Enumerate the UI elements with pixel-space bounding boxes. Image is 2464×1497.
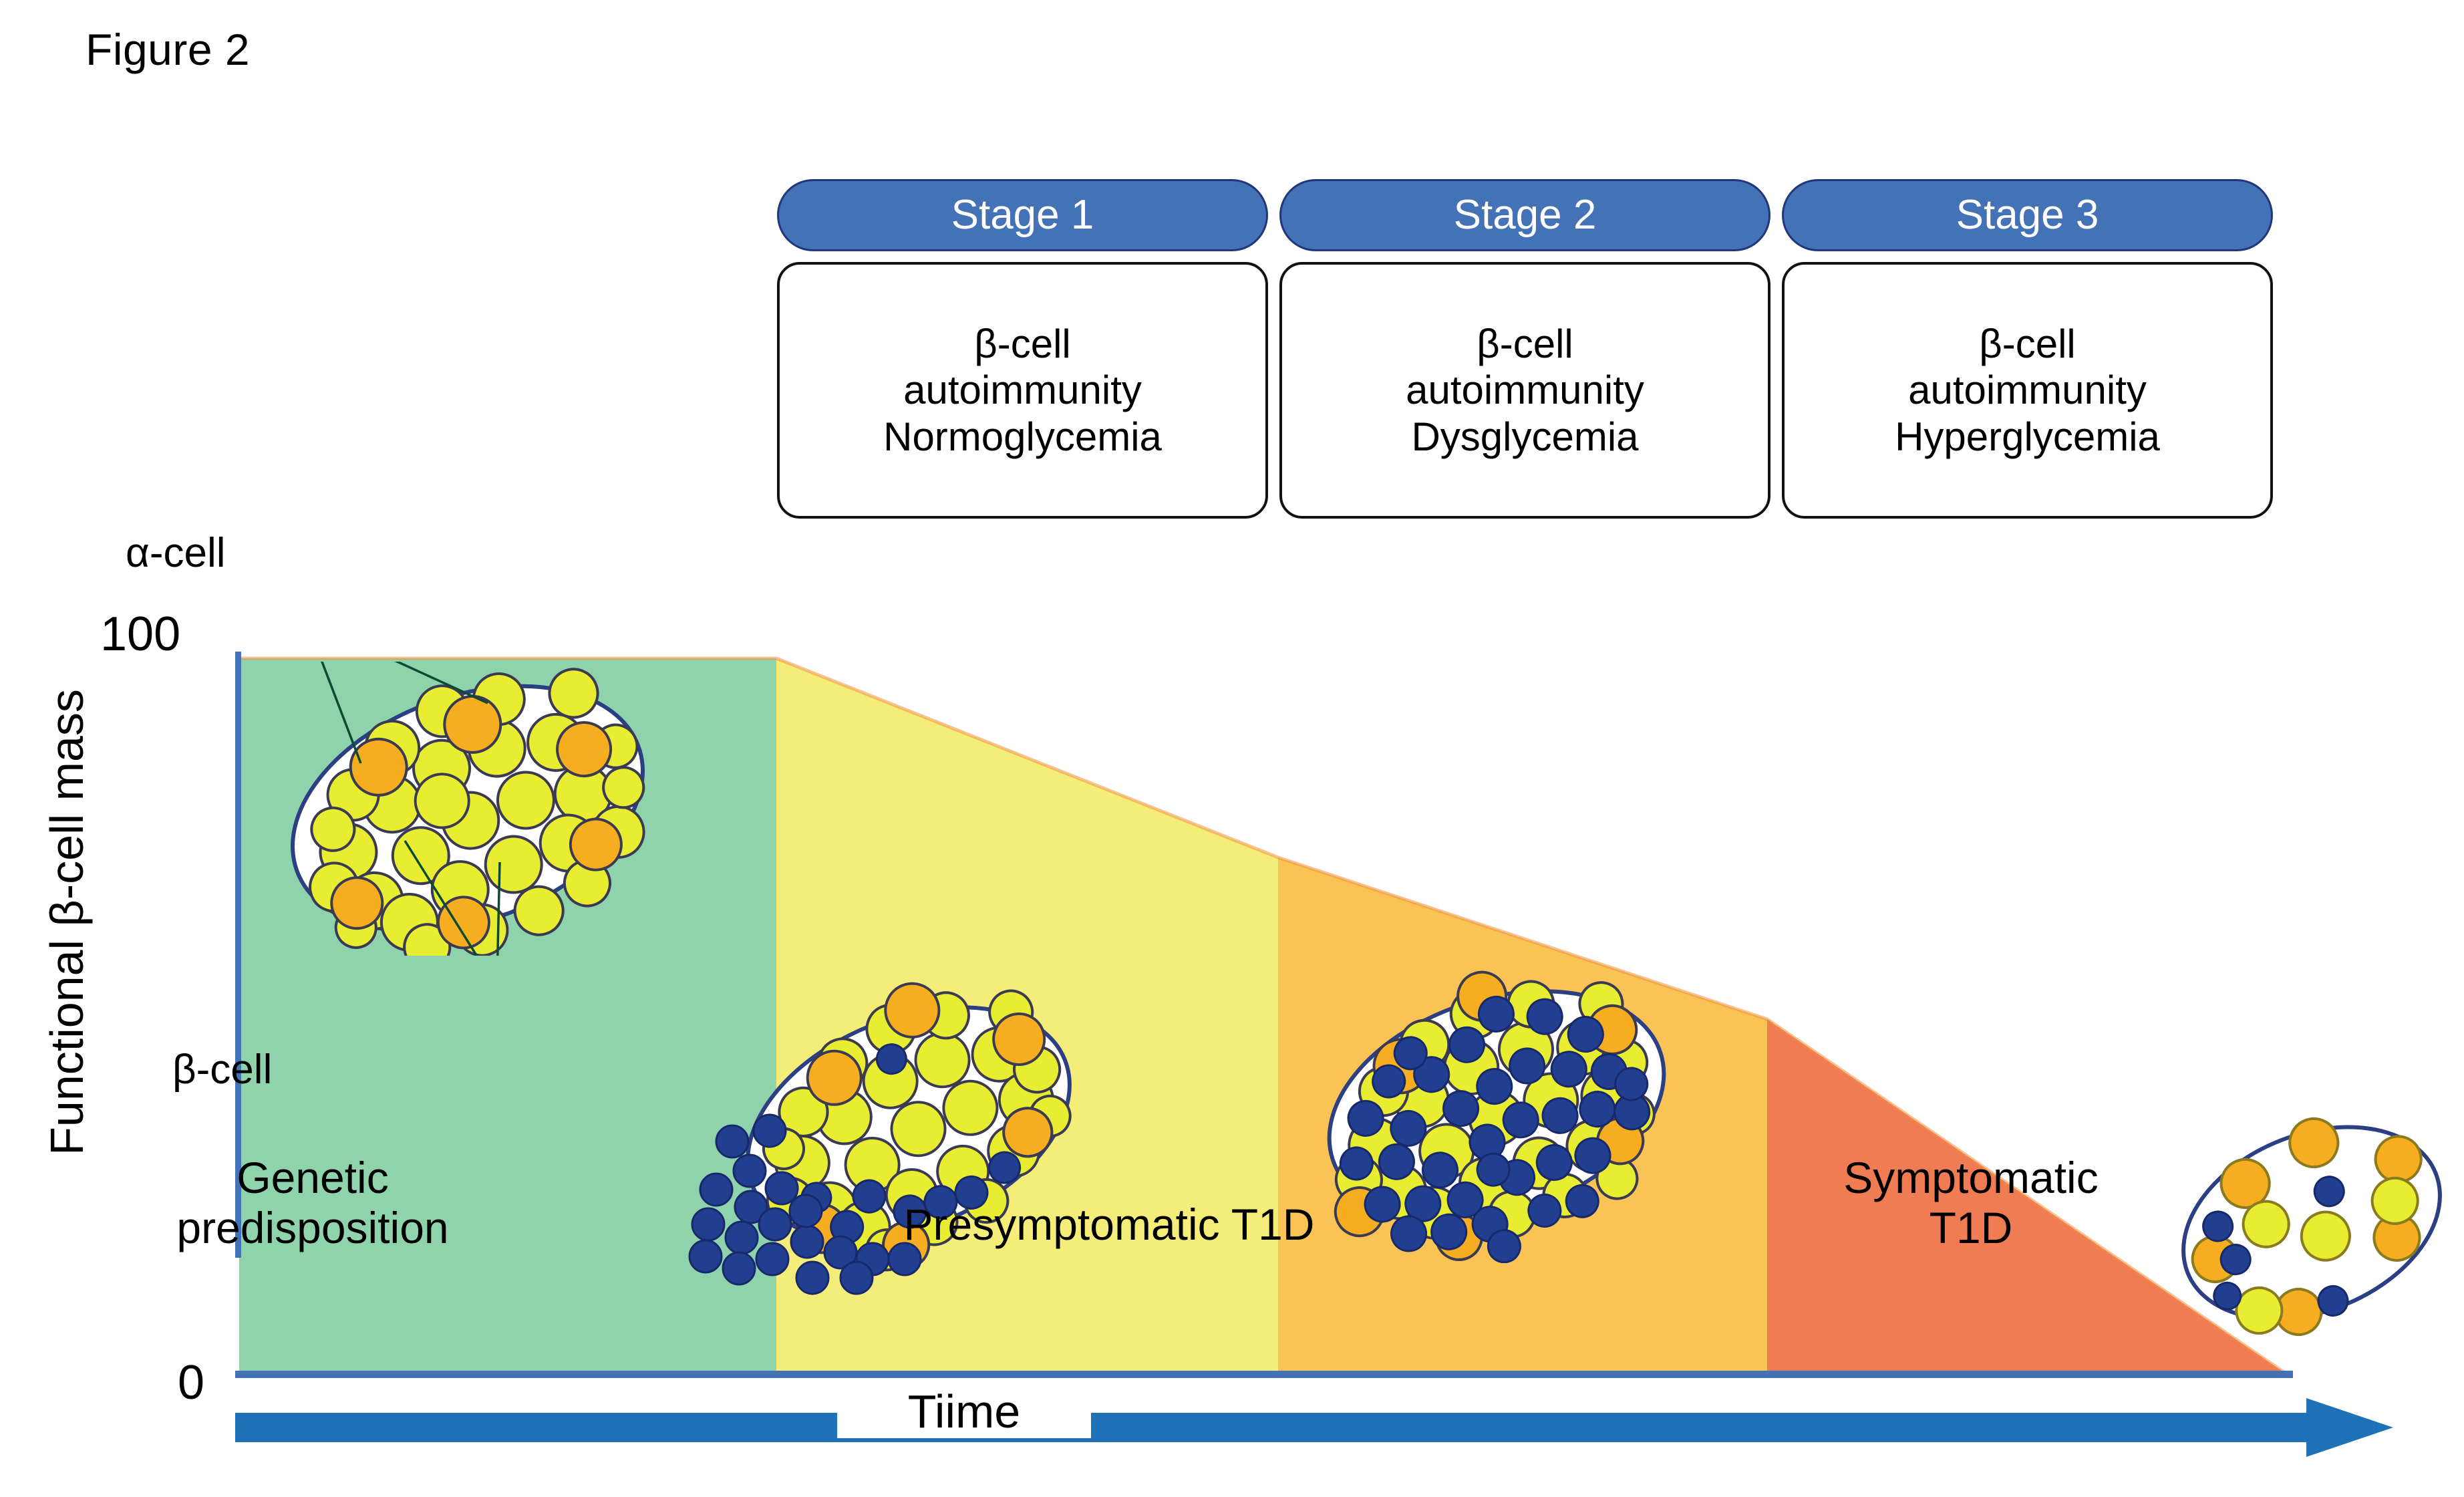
- stage-1-desc-line2: autoimmunity: [903, 367, 1142, 414]
- stage-3-label: Stage 3: [1956, 194, 2099, 236]
- stage-2-pill[interactable]: Stage 2: [1279, 179, 1770, 251]
- stage-1-desc-line1: β-cell: [974, 321, 1071, 368]
- region-label-genetic: Genetic predisposition: [166, 1153, 460, 1252]
- stage-1-pill[interactable]: Stage 1: [777, 179, 1268, 251]
- islet-stage3-endstage: [2165, 1089, 2459, 1357]
- stage-3-description-box: β-cell autoimmunity Hyperglycemia: [1782, 262, 2273, 519]
- region-label-genetic-line2: predisposition: [176, 1203, 448, 1252]
- x-axis-label: Tiime: [837, 1385, 1091, 1438]
- y-axis-label: Functional β-cell mass: [40, 635, 94, 1210]
- stage-2-desc-line3: Dysglycemia: [1411, 414, 1638, 460]
- region-label-presymptomatic: Presymptomatic T1D: [815, 1200, 1403, 1250]
- stage-2-desc-line2: autoimmunity: [1406, 367, 1644, 414]
- region-label-symptomatic: Symptomatic T1D: [1797, 1153, 2145, 1252]
- stage-2-label: Stage 2: [1454, 194, 1597, 236]
- stage-2-desc-line1: β-cell: [1477, 321, 1573, 368]
- beta-cell-mass-chart: 100 0 Functional β-cell mass: [0, 548, 2464, 1497]
- region-label-symptomatic-line1: Symptomatic: [1843, 1153, 2098, 1202]
- stage-2-description-box: β-cell autoimmunity Dysglycemia: [1279, 262, 1770, 519]
- stage-3-pill[interactable]: Stage 3: [1782, 179, 2273, 251]
- figure-title: Figure 2: [86, 24, 250, 75]
- x-axis-baseline: [235, 1371, 2293, 1378]
- beta-cell-annotation: β-cell: [172, 1046, 272, 1093]
- islet-healthy: [267, 662, 668, 956]
- stage-column-3: Stage 3 β-cell autoimmunity Hyperglycemi…: [1782, 179, 2273, 521]
- region-label-symptomatic-line2: T1D: [1930, 1203, 2013, 1252]
- stage-column-2: Stage 2 β-cell autoimmunity Dysglycemia: [1279, 179, 1770, 521]
- y-tick-0: 0: [178, 1355, 204, 1410]
- region-label-genetic-line1: Genetic: [237, 1153, 388, 1202]
- alpha-cell-annotation: α-cell: [126, 529, 226, 577]
- islet-stage1-peri-insulitis: [681, 976, 1109, 1310]
- stage-header-row: Stage 1 β-cell autoimmunity Normoglycemi…: [777, 179, 2274, 521]
- stage-1-description-box: β-cell autoimmunity Normoglycemia: [777, 262, 1268, 519]
- stage-1-desc-line3: Normoglycemia: [883, 414, 1162, 460]
- y-tick-100: 100: [100, 607, 180, 662]
- time-axis-arrow: [235, 1395, 2393, 1460]
- stage-3-desc-line3: Hyperglycemia: [1895, 414, 2160, 460]
- stage-1-label: Stage 1: [951, 194, 1094, 236]
- stage-column-1: Stage 1 β-cell autoimmunity Normoglycemi…: [777, 179, 1268, 521]
- stage-3-desc-line1: β-cell: [1979, 321, 2076, 368]
- stage-3-desc-line2: autoimmunity: [1908, 367, 2147, 414]
